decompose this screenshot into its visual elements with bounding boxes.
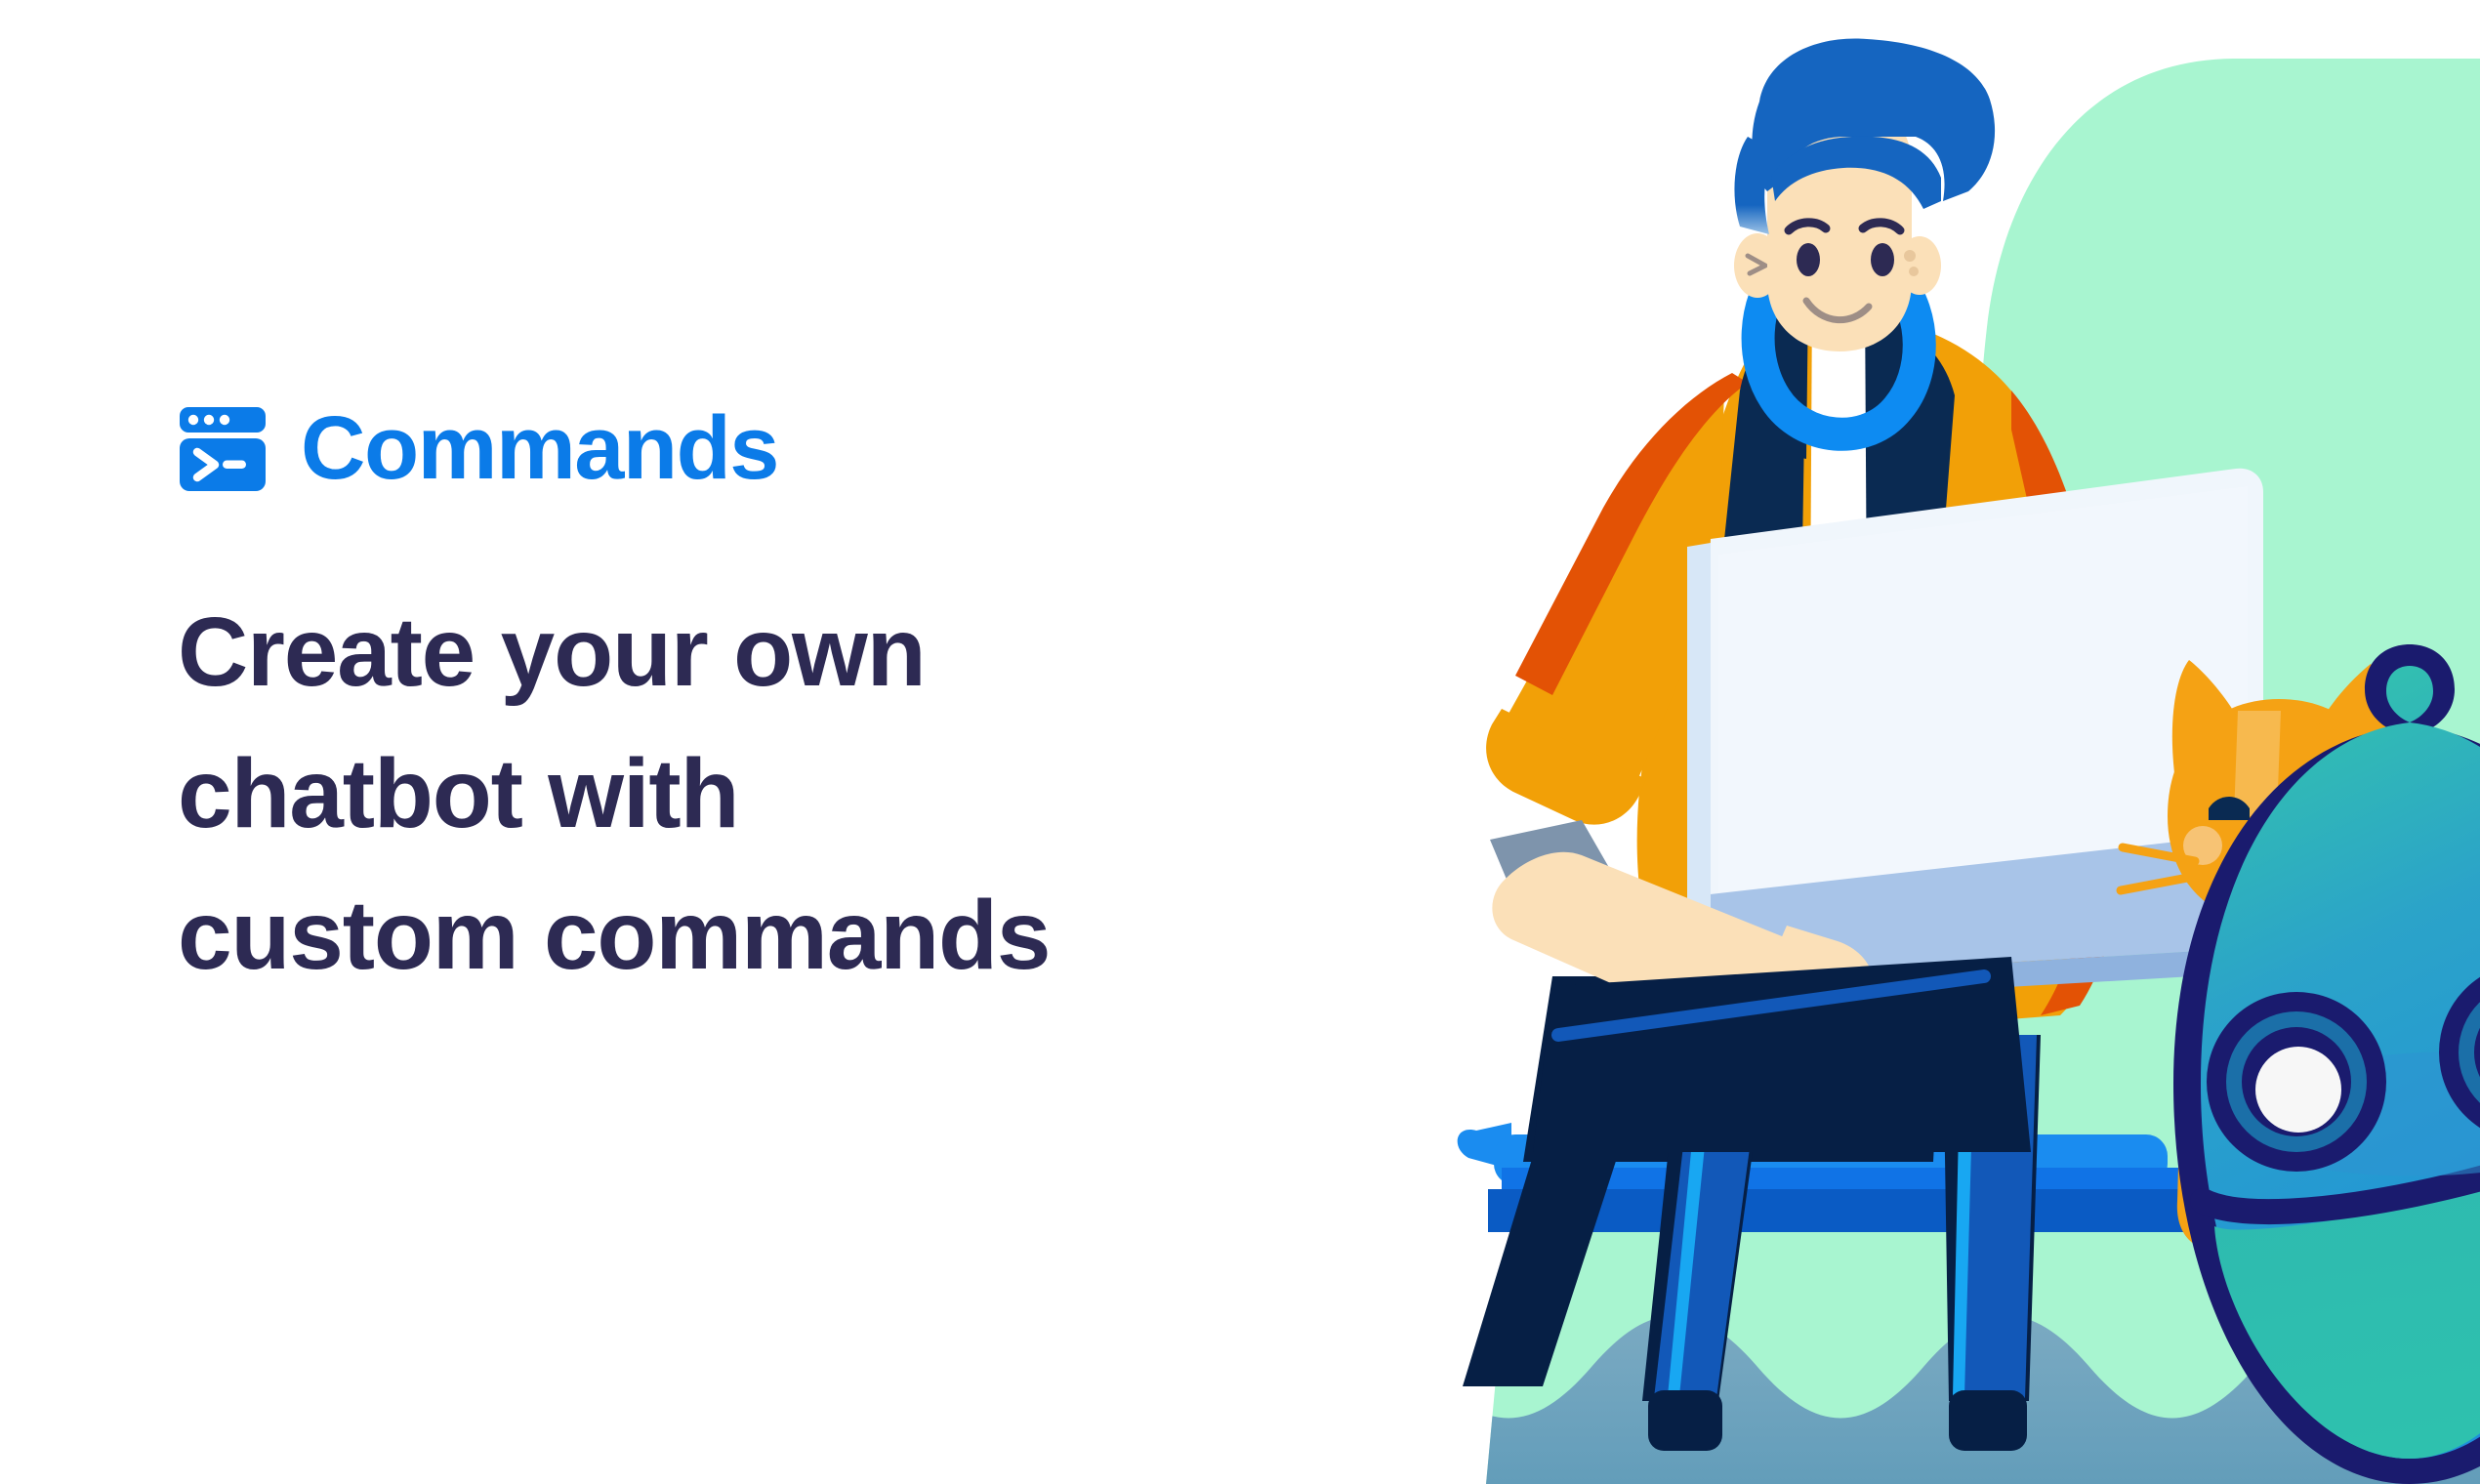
eyebrow: Commands <box>178 391 1271 506</box>
person-lap-shadow <box>1533 957 2031 1152</box>
person-head <box>1734 39 1995 351</box>
headline-line-3: custom commands <box>178 865 1271 1007</box>
eyebrow-label: Commands <box>301 403 778 493</box>
headline-line-1: Create your own <box>178 582 1271 723</box>
page-root: Commands Create your own chatbot with cu… <box>0 0 2480 1484</box>
hero-illustration <box>1260 0 2480 1484</box>
terminal-window-icon <box>178 403 268 493</box>
page-title: Create your own chatbot with custom comm… <box>178 582 1271 1007</box>
headline-line-2: chatbot with <box>178 723 1271 865</box>
hero-text-column: Commands Create your own chatbot with cu… <box>178 391 1271 1072</box>
